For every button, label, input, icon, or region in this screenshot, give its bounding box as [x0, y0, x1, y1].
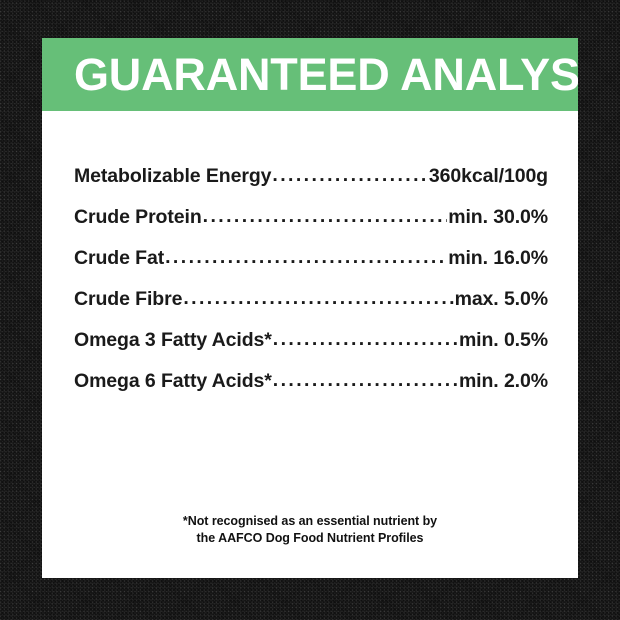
page-background: GUARANTEED ANALYSIS Metabolizable Energy…	[0, 0, 620, 620]
footnote: *Not recognised as an essential nutrient…	[42, 513, 578, 549]
dot-leader: ........................................…	[273, 369, 458, 392]
dot-leader: ........................................…	[183, 287, 453, 310]
nutrient-value: min. 16.0%	[448, 247, 548, 270]
table-row: Omega 6 Fatty Acids* ...................…	[74, 370, 548, 411]
footnote-line-1: *Not recognised as an essential nutrient…	[42, 513, 578, 531]
table-row: Crude Fibre ............................…	[74, 288, 548, 329]
nutrient-label: Omega 6 Fatty Acids*	[74, 370, 272, 393]
dot-leader: ........................................…	[273, 328, 458, 351]
table-row: Metabolizable Energy ...................…	[74, 165, 548, 206]
table-row: Omega 3 Fatty Acids* ...................…	[74, 329, 548, 370]
page-title: GUARANTEED ANALYSIS	[74, 52, 578, 97]
nutrient-value: max. 5.0%	[455, 288, 548, 311]
nutrient-value: 360kcal/100g	[429, 165, 548, 188]
panel-header-band: GUARANTEED ANALYSIS	[42, 38, 578, 111]
nutrient-label: Crude Fibre	[74, 288, 182, 311]
analysis-rows: Metabolizable Energy ...................…	[42, 165, 578, 411]
nutrient-label: Crude Protein	[74, 206, 202, 229]
dot-leader: ........................................…	[272, 164, 427, 187]
table-row: Crude Protein ..........................…	[74, 206, 548, 247]
nutrient-label: Omega 3 Fatty Acids*	[74, 329, 272, 352]
nutrient-value: min. 2.0%	[459, 370, 548, 393]
guaranteed-analysis-panel: GUARANTEED ANALYSIS Metabolizable Energy…	[42, 38, 578, 578]
nutrient-label: Metabolizable Energy	[74, 165, 271, 188]
footnote-line-2: the AAFCO Dog Food Nutrient Profiles	[42, 530, 578, 548]
nutrient-value: min. 30.0%	[448, 206, 548, 229]
dot-leader: ........................................…	[203, 205, 448, 228]
table-row: Crude Fat ..............................…	[74, 247, 548, 288]
nutrient-label: Crude Fat	[74, 247, 164, 270]
nutrient-value: min. 0.5%	[459, 329, 548, 352]
dot-leader: ........................................…	[165, 246, 447, 269]
